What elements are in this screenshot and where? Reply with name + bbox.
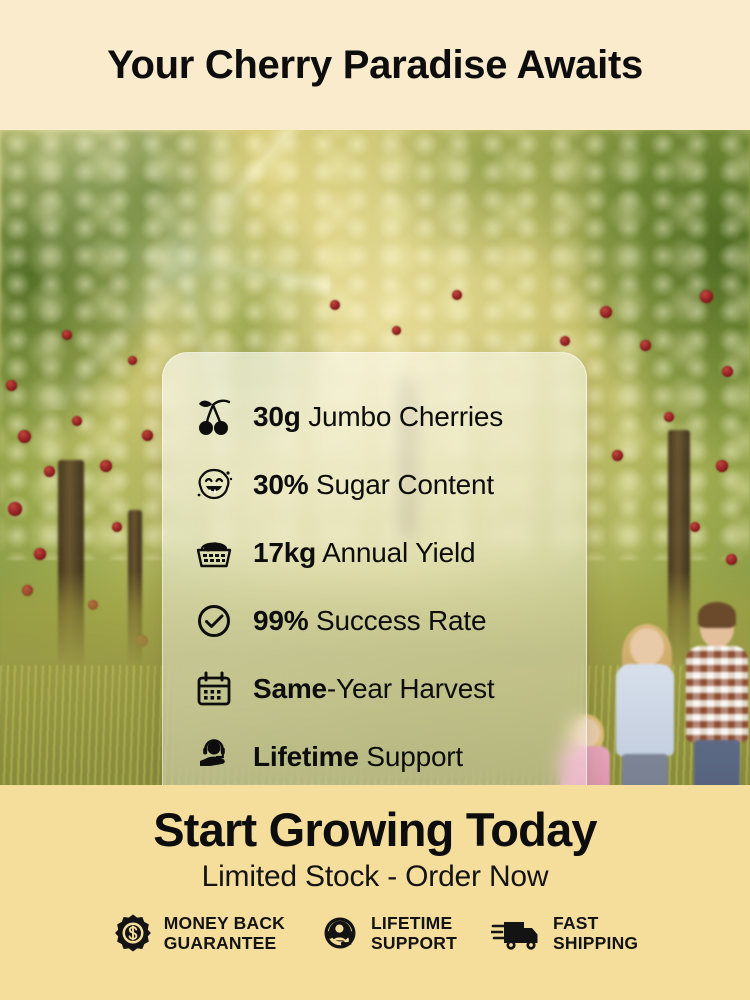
cherry-fruit [72,416,82,426]
cherry-fruit [44,466,55,477]
cherry-fruit [62,330,72,340]
feature-label: Same-Year Harvest [253,673,494,705]
trust-badges: MONEY BACKGUARANTEE [0,912,750,954]
promo-poster: Your Cherry Paradise Awaits [0,0,750,1000]
feature-item: 30% Sugar Content [191,451,586,519]
cherry-fruit [392,326,401,335]
person-woman [604,628,682,785]
cherry-fruit [664,412,674,422]
cherry-fruit [612,450,623,461]
cherry-fruit [716,460,728,472]
feature-label: 30g Jumbo Cherries [253,401,503,433]
cherry-fruit [34,548,46,560]
cherry-fruit [726,554,737,565]
cherry-fruit [142,430,153,441]
cherry-fruit [452,290,462,300]
feature-label: 30% Sugar Content [253,469,494,501]
header-band: Your Cherry Paradise Awaits [0,0,750,130]
sugar-face-icon [191,462,237,508]
feature-item: Lifetime Support [191,723,586,785]
fruit-basket-icon [191,530,237,576]
cherry-fruit [128,356,137,365]
badge-money-back: MONEY BACKGUARANTEE [112,912,285,954]
hero-photo: 30g Jumbo Cherries [0,130,750,785]
headset-icon [319,912,361,954]
person-man [682,608,750,785]
cherry-fruit [640,340,651,351]
feature-label: 17kg Annual Yield [253,537,475,569]
cta-subtitle: Limited Stock - Order Now [0,860,750,894]
feature-item: 99% Success Rate [191,587,586,655]
cherry-fruit [722,366,733,377]
badge-label: FASTSHIPPING [553,913,638,954]
feature-label: 99% Success Rate [253,605,486,637]
cherry-fruit [690,522,700,532]
cherry-fruit [6,380,17,391]
feature-label: Lifetime Support [253,741,463,773]
support-hand-icon [191,734,237,780]
feature-item: 17kg Annual Yield [191,519,586,587]
cherry-fruit [8,502,22,516]
features-card: 30g Jumbo Cherries [162,352,587,785]
badge-fast-shipping: FASTSHIPPING [491,912,638,954]
cherry-fruit [330,300,340,310]
badge-label: LIFETIMESUPPORT [371,913,457,954]
cherry-fruit [560,336,570,346]
footer-cta-band: Start Growing Today Limited Stock - Orde… [0,785,750,1000]
calendar-icon [191,666,237,712]
badge-label: MONEY BACKGUARANTEE [164,913,285,954]
badge-lifetime-support: LIFETIMESUPPORT [319,912,457,954]
feature-item: 30g Jumbo Cherries [191,383,586,451]
money-badge-icon [112,912,154,954]
cherry-fruit [600,306,612,318]
cta-title: Start Growing Today [0,805,750,854]
cherries-icon [191,394,237,440]
cherry-fruit [18,430,31,443]
check-circle-icon [191,598,237,644]
cherry-fruit [112,522,122,532]
cherry-fruit [100,460,112,472]
feature-item: Same-Year Harvest [191,655,586,723]
delivery-truck-icon [491,912,543,954]
cherry-fruit [700,290,713,303]
page-title: Your Cherry Paradise Awaits [107,43,643,88]
